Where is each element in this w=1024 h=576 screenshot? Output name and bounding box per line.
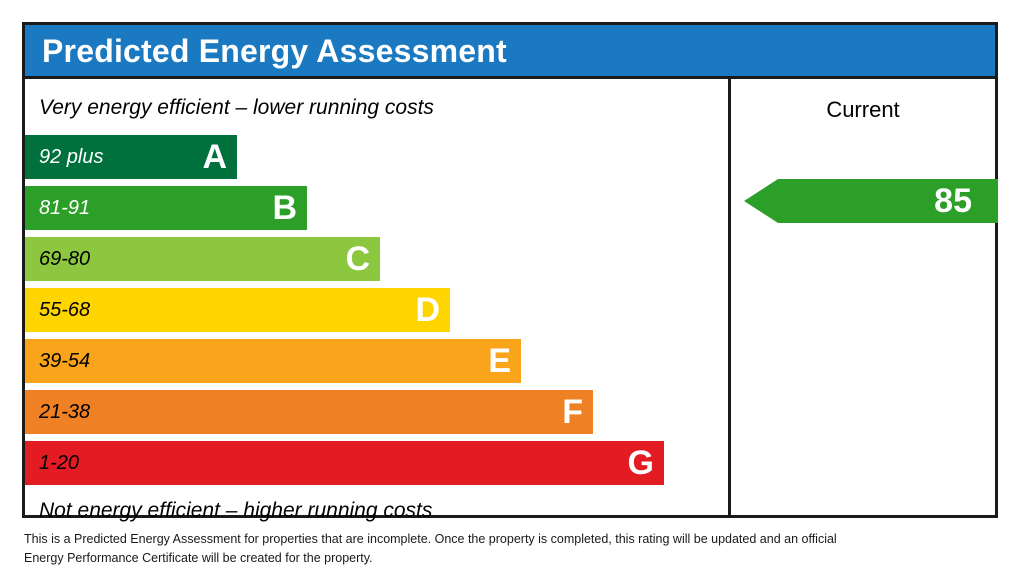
rating-scale-column: Very energy efficient – lower running co… (25, 79, 728, 515)
band-range-label: 1-20 (25, 453, 79, 473)
rating-band-a: 92 plusA (25, 135, 237, 179)
efficiency-caption-bottom: Not energy efficient – higher running co… (39, 499, 432, 523)
band-range-label: 55-68 (25, 300, 90, 320)
efficiency-caption-top: Very energy efficient – lower running co… (39, 96, 434, 120)
current-rating-value: 85 (934, 184, 972, 218)
rating-band-g: 1-20G (25, 441, 664, 485)
certificate-frame: Predicted Energy Assessment Very energy … (22, 22, 998, 518)
rating-band-b: 81-91B (25, 186, 307, 230)
band-letter-label: E (488, 344, 511, 378)
band-letter-label: A (202, 140, 227, 174)
band-letter-label: C (345, 242, 370, 276)
energy-certificate-page: Predicted Energy Assessment Very energy … (0, 0, 1024, 576)
current-rating-arrow: 85 (744, 179, 998, 223)
band-range-label: 81-91 (25, 198, 90, 218)
current-rating-column: Current 85 (731, 79, 995, 515)
current-column-header: Current (731, 97, 995, 123)
certificate-body: Very energy efficient – lower running co… (25, 79, 995, 515)
band-range-label: 21-38 (25, 402, 90, 422)
rating-band-d: 55-68D (25, 288, 450, 332)
page-title: Predicted Energy Assessment (25, 35, 507, 67)
band-range-label: 69-80 (25, 249, 90, 269)
rating-band-e: 39-54E (25, 339, 521, 383)
rating-band-f: 21-38F (25, 390, 593, 434)
band-range-label: 92 plus (25, 147, 104, 167)
band-letter-label: B (272, 191, 297, 225)
title-bar: Predicted Energy Assessment (25, 25, 995, 79)
footer-note: This is a Predicted Energy Assessment fo… (24, 530, 844, 569)
band-letter-label: D (415, 293, 440, 327)
band-range-label: 39-54 (25, 351, 90, 371)
band-letter-label: F (562, 395, 583, 429)
rating-band-c: 69-80C (25, 237, 380, 281)
band-letter-label: G (628, 446, 654, 480)
